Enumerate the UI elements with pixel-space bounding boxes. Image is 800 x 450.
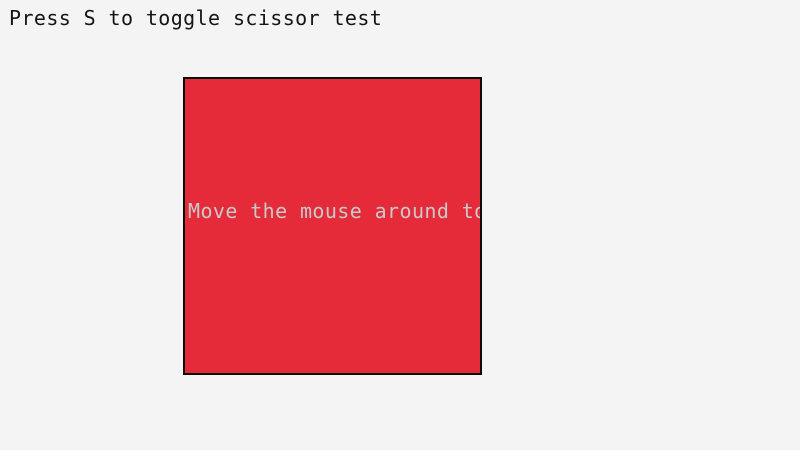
scissor-region-box[interactable]: Move the mouse around to r [183,77,482,375]
scissor-toggle-hint: Press S to toggle scissor test [9,5,382,31]
app-canvas[interactable]: Press S to toggle scissor test Move the … [0,0,800,450]
scissor-clipped-message: Move the mouse around to r [188,198,482,224]
